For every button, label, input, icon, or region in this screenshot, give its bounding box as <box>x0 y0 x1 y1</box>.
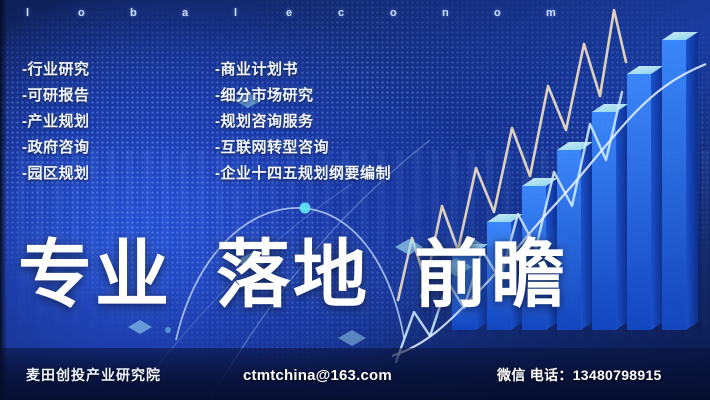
ticker-letter: n <box>442 7 494 19</box>
service-item: -规划咨询服务 <box>215 109 391 135</box>
service-list-left: -行业研究 -可研报告 -产业规划 -政府咨询 -园区规划 <box>22 57 215 187</box>
service-item: -商业计划书 <box>215 57 391 83</box>
ticker-letter: a <box>182 7 234 19</box>
ticker-letter: o <box>390 7 442 19</box>
service-item: -企业十四五规划纲要编制 <box>215 161 391 187</box>
service-item: -政府咨询 <box>22 135 215 161</box>
headline: 专业 落地 前瞻 <box>18 238 568 312</box>
ticker-letter: b <box>130 7 182 19</box>
service-lists: -行业研究 -可研报告 -产业规划 -政府咨询 -园区规划 -商业计划书 -细分… <box>22 57 391 187</box>
ticker-letter: c <box>338 7 390 19</box>
ticker-letter: o <box>78 7 130 19</box>
ticker-letter: o <box>494 7 546 19</box>
service-item: -可研报告 <box>22 83 215 109</box>
organization-name: 麦田创投产业研究院 <box>26 365 161 385</box>
headline-word: 专业 <box>18 238 172 312</box>
email-address[interactable]: ctmtchina@163.com <box>243 367 392 384</box>
footer: 麦田创投产业研究院 ctmtchina@163.com 微信 电话：134807… <box>0 364 710 386</box>
ticker-letter: m <box>546 7 598 19</box>
ticker-letter: l <box>234 7 286 19</box>
headline-word: 前瞻 <box>414 238 568 312</box>
service-item: -细分市场研究 <box>215 83 391 109</box>
service-item: -互联网转型咨询 <box>215 135 391 161</box>
service-list-right: -商业计划书 -细分市场研究 -规划咨询服务 -互联网转型咨询 -企业十四五规划… <box>215 57 391 187</box>
service-item: -行业研究 <box>22 57 215 83</box>
promotional-poster: l o b a l e c o n o m -行业研究 -可研报告 -产业规划 … <box>0 0 710 400</box>
service-item: -园区规划 <box>22 161 215 187</box>
arc-apex-dot <box>300 203 311 214</box>
ticker-bar: l o b a l e c o n o m <box>0 0 710 26</box>
headline-word: 落地 <box>216 238 370 312</box>
ticker-letter: e <box>286 7 338 19</box>
ticker-letter: l <box>26 7 78 19</box>
service-item: -产业规划 <box>22 109 215 135</box>
left-edge-shadow <box>0 0 7 400</box>
contact-phone: 微信 电话：13480798915 <box>497 365 662 385</box>
